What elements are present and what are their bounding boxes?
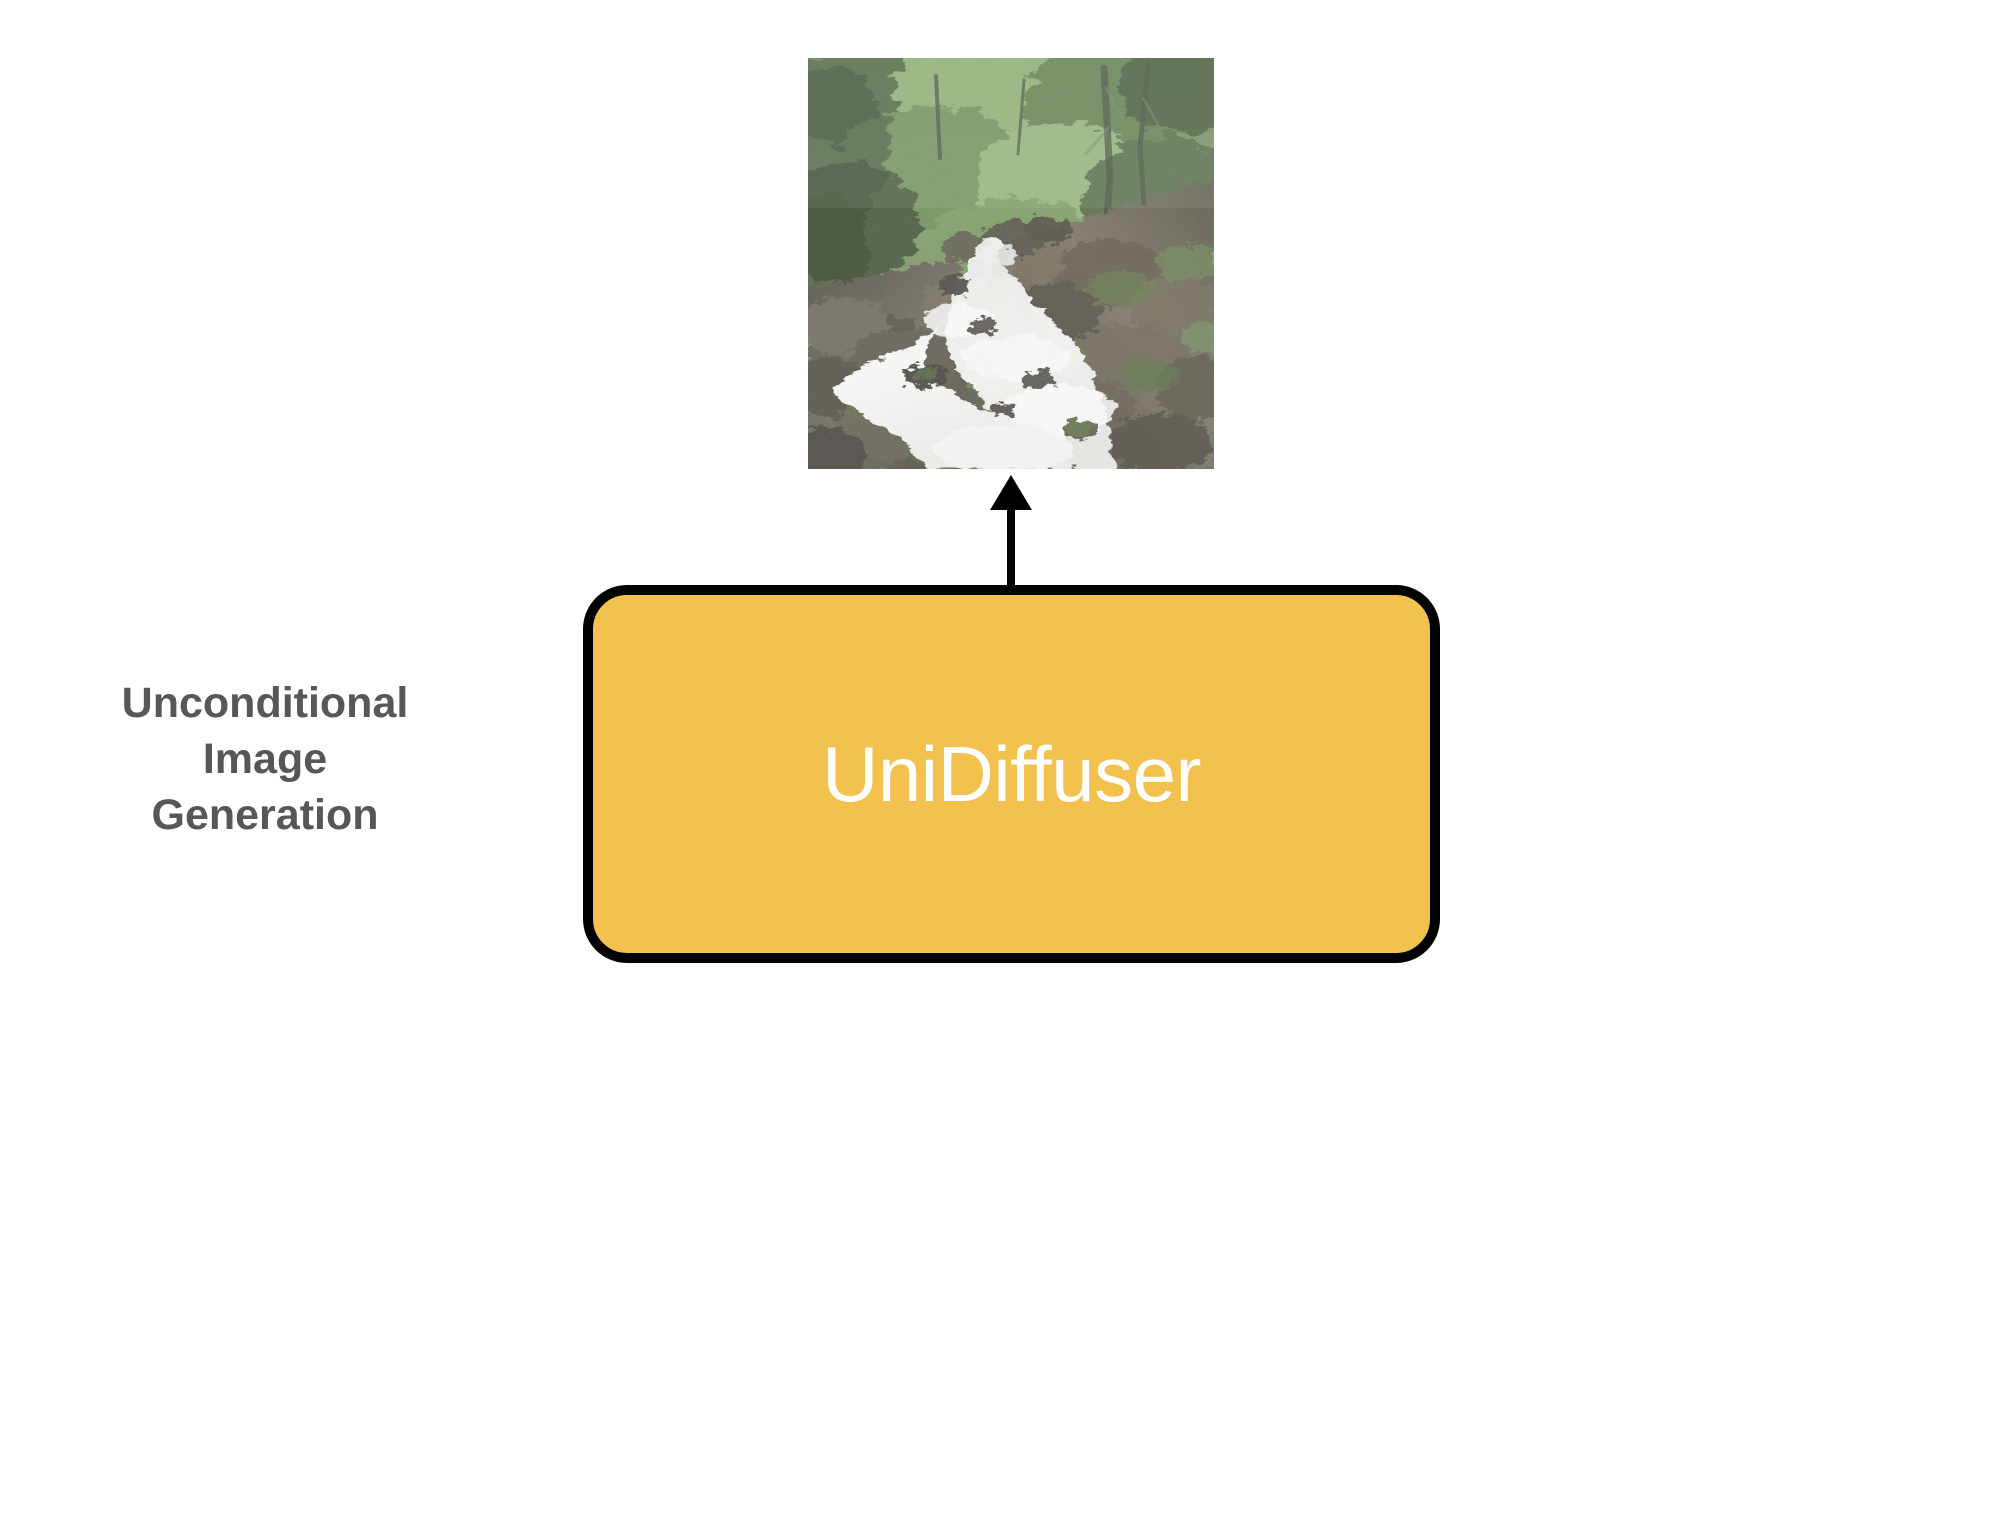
unidiffuser-model-box[interactable]: UniDiffuser xyxy=(583,585,1440,963)
task-label-line-3: Generation xyxy=(70,788,460,844)
generated-image-render xyxy=(808,58,1214,469)
arrow-up-icon xyxy=(968,470,1054,592)
task-label-line-2: Image xyxy=(70,732,460,788)
arrow-up-glyph xyxy=(968,470,1054,592)
generated-image xyxy=(808,58,1214,469)
model-box-label: UniDiffuser xyxy=(822,735,1201,813)
diagram-canvas: UniDiffuser Unconditional Image Generati… xyxy=(0,0,1992,1516)
task-label: Unconditional Image Generation xyxy=(70,676,460,844)
task-label-line-1: Unconditional xyxy=(70,676,460,732)
